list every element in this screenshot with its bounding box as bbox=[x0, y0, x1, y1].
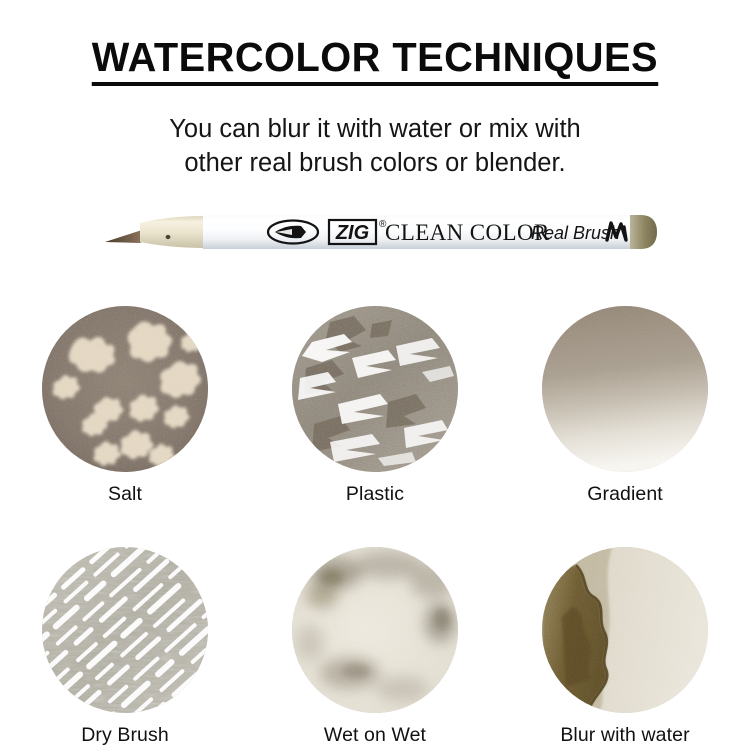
pen-end-cap bbox=[630, 215, 657, 249]
swatch-dry-brush-art bbox=[42, 547, 208, 713]
swatch-label-salt: Salt bbox=[108, 483, 142, 506]
swatch-dry-brush bbox=[42, 547, 208, 713]
swatch-salt-art bbox=[42, 306, 208, 472]
swatch-plastic bbox=[292, 306, 458, 472]
ferrule-vent-dot-icon bbox=[166, 235, 171, 239]
subtitle: You can blur it with water or mix with o… bbox=[0, 112, 750, 180]
pen-svg: ZIG ® CLEAN COLOR Real Brush bbox=[0, 196, 750, 266]
technique-cell-dry-brush: Dry Brush bbox=[0, 547, 250, 747]
swatch-plastic-art bbox=[292, 306, 458, 472]
swatch-label-plastic: Plastic bbox=[346, 483, 404, 506]
swatch-wet-on-wet bbox=[292, 547, 458, 713]
swatch-label-gradient: Gradient bbox=[587, 483, 663, 506]
technique-grid: Salt bbox=[0, 306, 750, 747]
subtitle-line-2: other real brush colors or blender. bbox=[0, 146, 750, 180]
swatch-label-wet-on-wet: Wet on Wet bbox=[324, 724, 426, 747]
technique-row-2: Dry Brush bbox=[0, 547, 750, 747]
pen-brand-text: ZIG bbox=[335, 222, 369, 244]
technique-cell-wet-on-wet: Wet on Wet bbox=[250, 547, 500, 747]
pen-product-line-text: CLEAN COLOR bbox=[385, 220, 550, 245]
pen-brand-wordmark: ZIG bbox=[329, 220, 376, 244]
swatch-gradient bbox=[542, 306, 708, 472]
technique-row-1: Salt bbox=[0, 306, 750, 506]
technique-cell-blur-with-water: Blur with water bbox=[500, 547, 750, 747]
swatch-gradient-art bbox=[542, 306, 708, 472]
header: WATERCOLOR TECHNIQUES You can blur it wi… bbox=[0, 0, 750, 180]
swatch-label-blur-with-water: Blur with water bbox=[560, 724, 689, 747]
swatch-blur-with-water-art bbox=[542, 547, 708, 713]
swatch-wet-on-wet-art bbox=[292, 547, 458, 713]
technique-cell-salt: Salt bbox=[0, 306, 250, 506]
technique-cell-plastic: Plastic bbox=[250, 306, 500, 506]
swatch-label-dry-brush: Dry Brush bbox=[81, 724, 169, 747]
subtitle-line-1: You can blur it with water or mix with bbox=[0, 112, 750, 146]
technique-cell-gradient: Gradient bbox=[500, 306, 750, 506]
swatch-blur-with-water bbox=[542, 547, 708, 713]
pen-ferrule bbox=[140, 216, 205, 248]
pen-illustration: ZIG ® CLEAN COLOR Real Brush bbox=[0, 196, 750, 266]
swatch-salt bbox=[42, 306, 208, 472]
page-title: WATERCOLOR TECHNIQUES bbox=[92, 36, 658, 86]
